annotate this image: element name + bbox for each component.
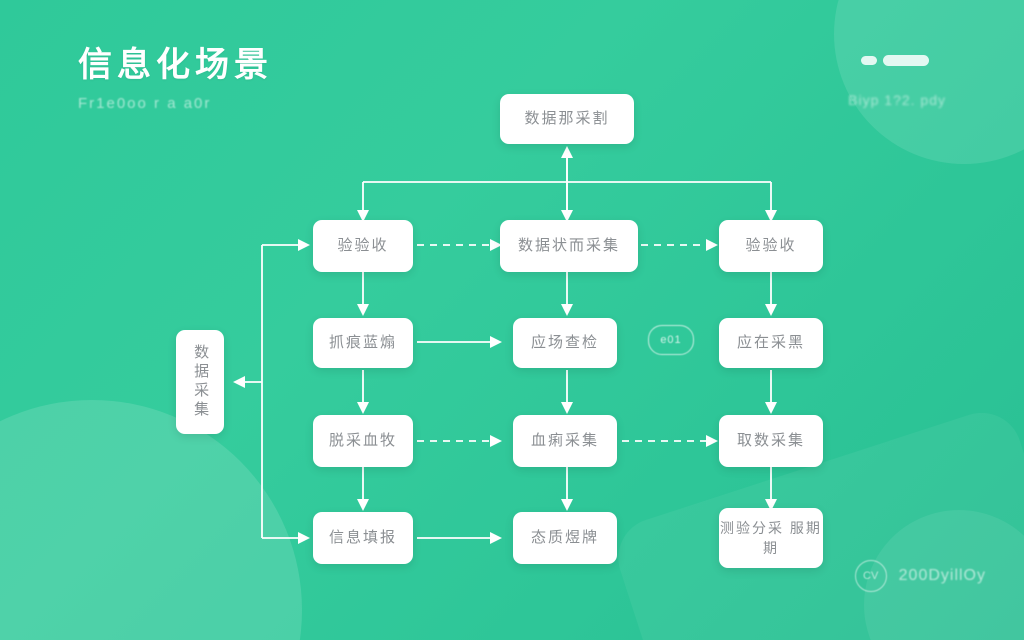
flow-node-r3c1[interactable]: 脱采血牧 [313,415,413,467]
flow-node-r4c2[interactable]: 态质煜牌 [513,512,617,564]
slide-canvas: 信息化场景 Fr1e0oo r a a0r Biyp 1?2. pdy [0,0,1024,640]
flow-node-r2c3[interactable]: 应在采黑 [719,318,823,368]
flow-node-r1c2[interactable]: 数据状而采集 [500,220,638,272]
flow-node-r4c3[interactable]: 测验分采 服期期 [719,508,823,568]
flow-node-top[interactable]: 数据那采割 [500,94,634,144]
flow-node-r2c2[interactable]: 应场查检 [513,318,617,368]
flow-node-r3c3[interactable]: 取数采集 [719,415,823,467]
status-badge-e01: e01 [648,325,694,355]
flow-node-r2c1[interactable]: 抓痕蓝煽 [313,318,413,368]
flow-node-r1c3[interactable]: 验验收 [719,220,823,272]
footer-brand: CV 200DyillOy [855,560,986,592]
flow-node-r3c2[interactable]: 血痢采集 [513,415,617,467]
brand-logo-icon: CV [855,560,887,592]
flow-node-r1c1[interactable]: 验验收 [313,220,413,272]
flow-node-side-data-collection[interactable]: 数据采集 [176,330,224,434]
flow-node-r4c1[interactable]: 信息填报 [313,512,413,564]
watermark-bottom-right: 200DyillOy [899,567,986,585]
